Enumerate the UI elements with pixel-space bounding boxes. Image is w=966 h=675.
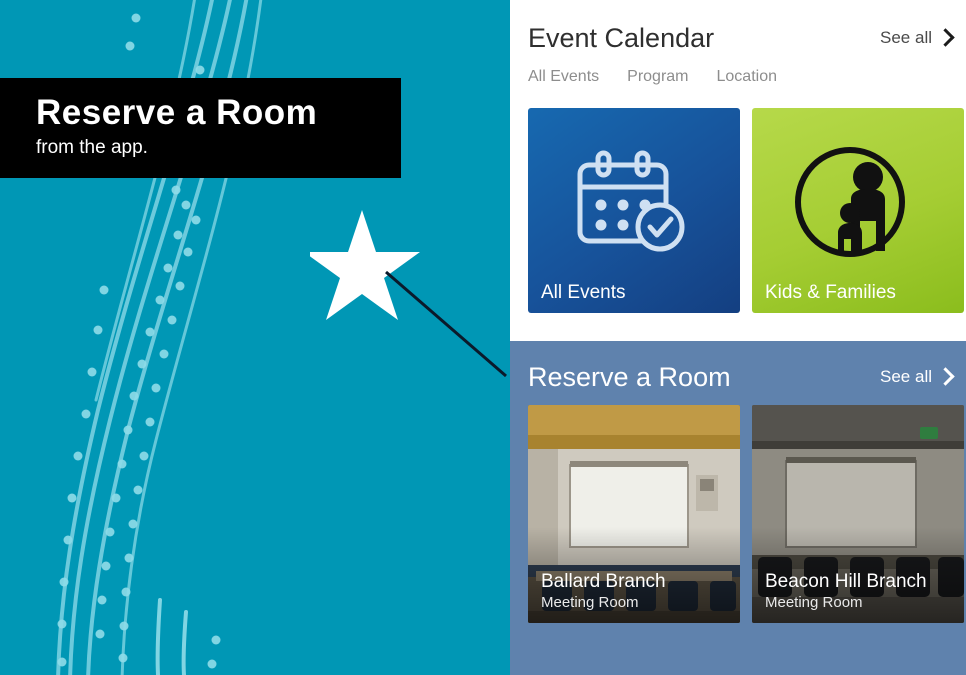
- event-card-label: All Events: [541, 282, 625, 304]
- chevron-right-icon: [936, 367, 954, 385]
- event-filter-tabs: All Events Program Location: [528, 68, 777, 86]
- phone-screen: Event Calendar See all All Events Progra…: [510, 0, 966, 675]
- event-calendar-section: Event Calendar See all All Events Progra…: [510, 0, 966, 341]
- room-name: Beacon Hill Branch: [765, 570, 927, 593]
- star-icon: [310, 210, 420, 320]
- room-type: Meeting Room: [541, 593, 666, 613]
- promo-banner: Reserve a Room from the app.: [0, 78, 401, 178]
- chevron-right-icon: [936, 28, 954, 46]
- tab-program[interactable]: Program: [627, 68, 688, 86]
- event-card-label: Kids & Families: [765, 282, 896, 304]
- event-cards-row: All Events Kids & Families: [528, 108, 964, 313]
- pointer-callout: [310, 200, 520, 390]
- room-card-ballard[interactable]: Ballard Branch Meeting Room: [528, 405, 740, 623]
- reserve-room-see-all-button[interactable]: See all: [880, 367, 952, 387]
- pointer-line-icon: [386, 272, 506, 376]
- promo-title: Reserve a Room: [36, 92, 401, 134]
- room-caption: Ballard Branch Meeting Room: [541, 570, 666, 613]
- room-type: Meeting Room: [765, 593, 927, 613]
- see-all-label: See all: [880, 28, 932, 48]
- event-calendar-header: Event Calendar See all: [528, 18, 952, 58]
- event-card-kids-families[interactable]: Kids & Families: [752, 108, 964, 313]
- event-calendar-title: Event Calendar: [528, 23, 714, 54]
- screenshot-root: Reserve a Room from the app. Event Calen…: [0, 0, 966, 675]
- reserve-room-title: Reserve a Room: [528, 362, 731, 393]
- family-circle-icon: [788, 141, 928, 263]
- room-name: Ballard Branch: [541, 570, 666, 593]
- room-card-beacon-hill[interactable]: Beacon Hill Branch Meeting Room: [752, 405, 964, 623]
- calendar-check-icon: [568, 143, 700, 261]
- reserve-room-section: Reserve a Room See all: [510, 341, 966, 675]
- event-card-all-events[interactable]: All Events: [528, 108, 740, 313]
- event-calendar-see-all-button[interactable]: See all: [880, 28, 952, 48]
- promo-subtitle: from the app.: [36, 136, 401, 160]
- tab-location[interactable]: Location: [717, 68, 778, 86]
- reserve-room-header: Reserve a Room See all: [528, 357, 952, 397]
- see-all-label: See all: [880, 367, 932, 387]
- room-caption: Beacon Hill Branch Meeting Room: [765, 570, 927, 613]
- tab-all-events[interactable]: All Events: [528, 68, 599, 86]
- room-cards-row: Ballard Branch Meeting Room: [528, 405, 964, 623]
